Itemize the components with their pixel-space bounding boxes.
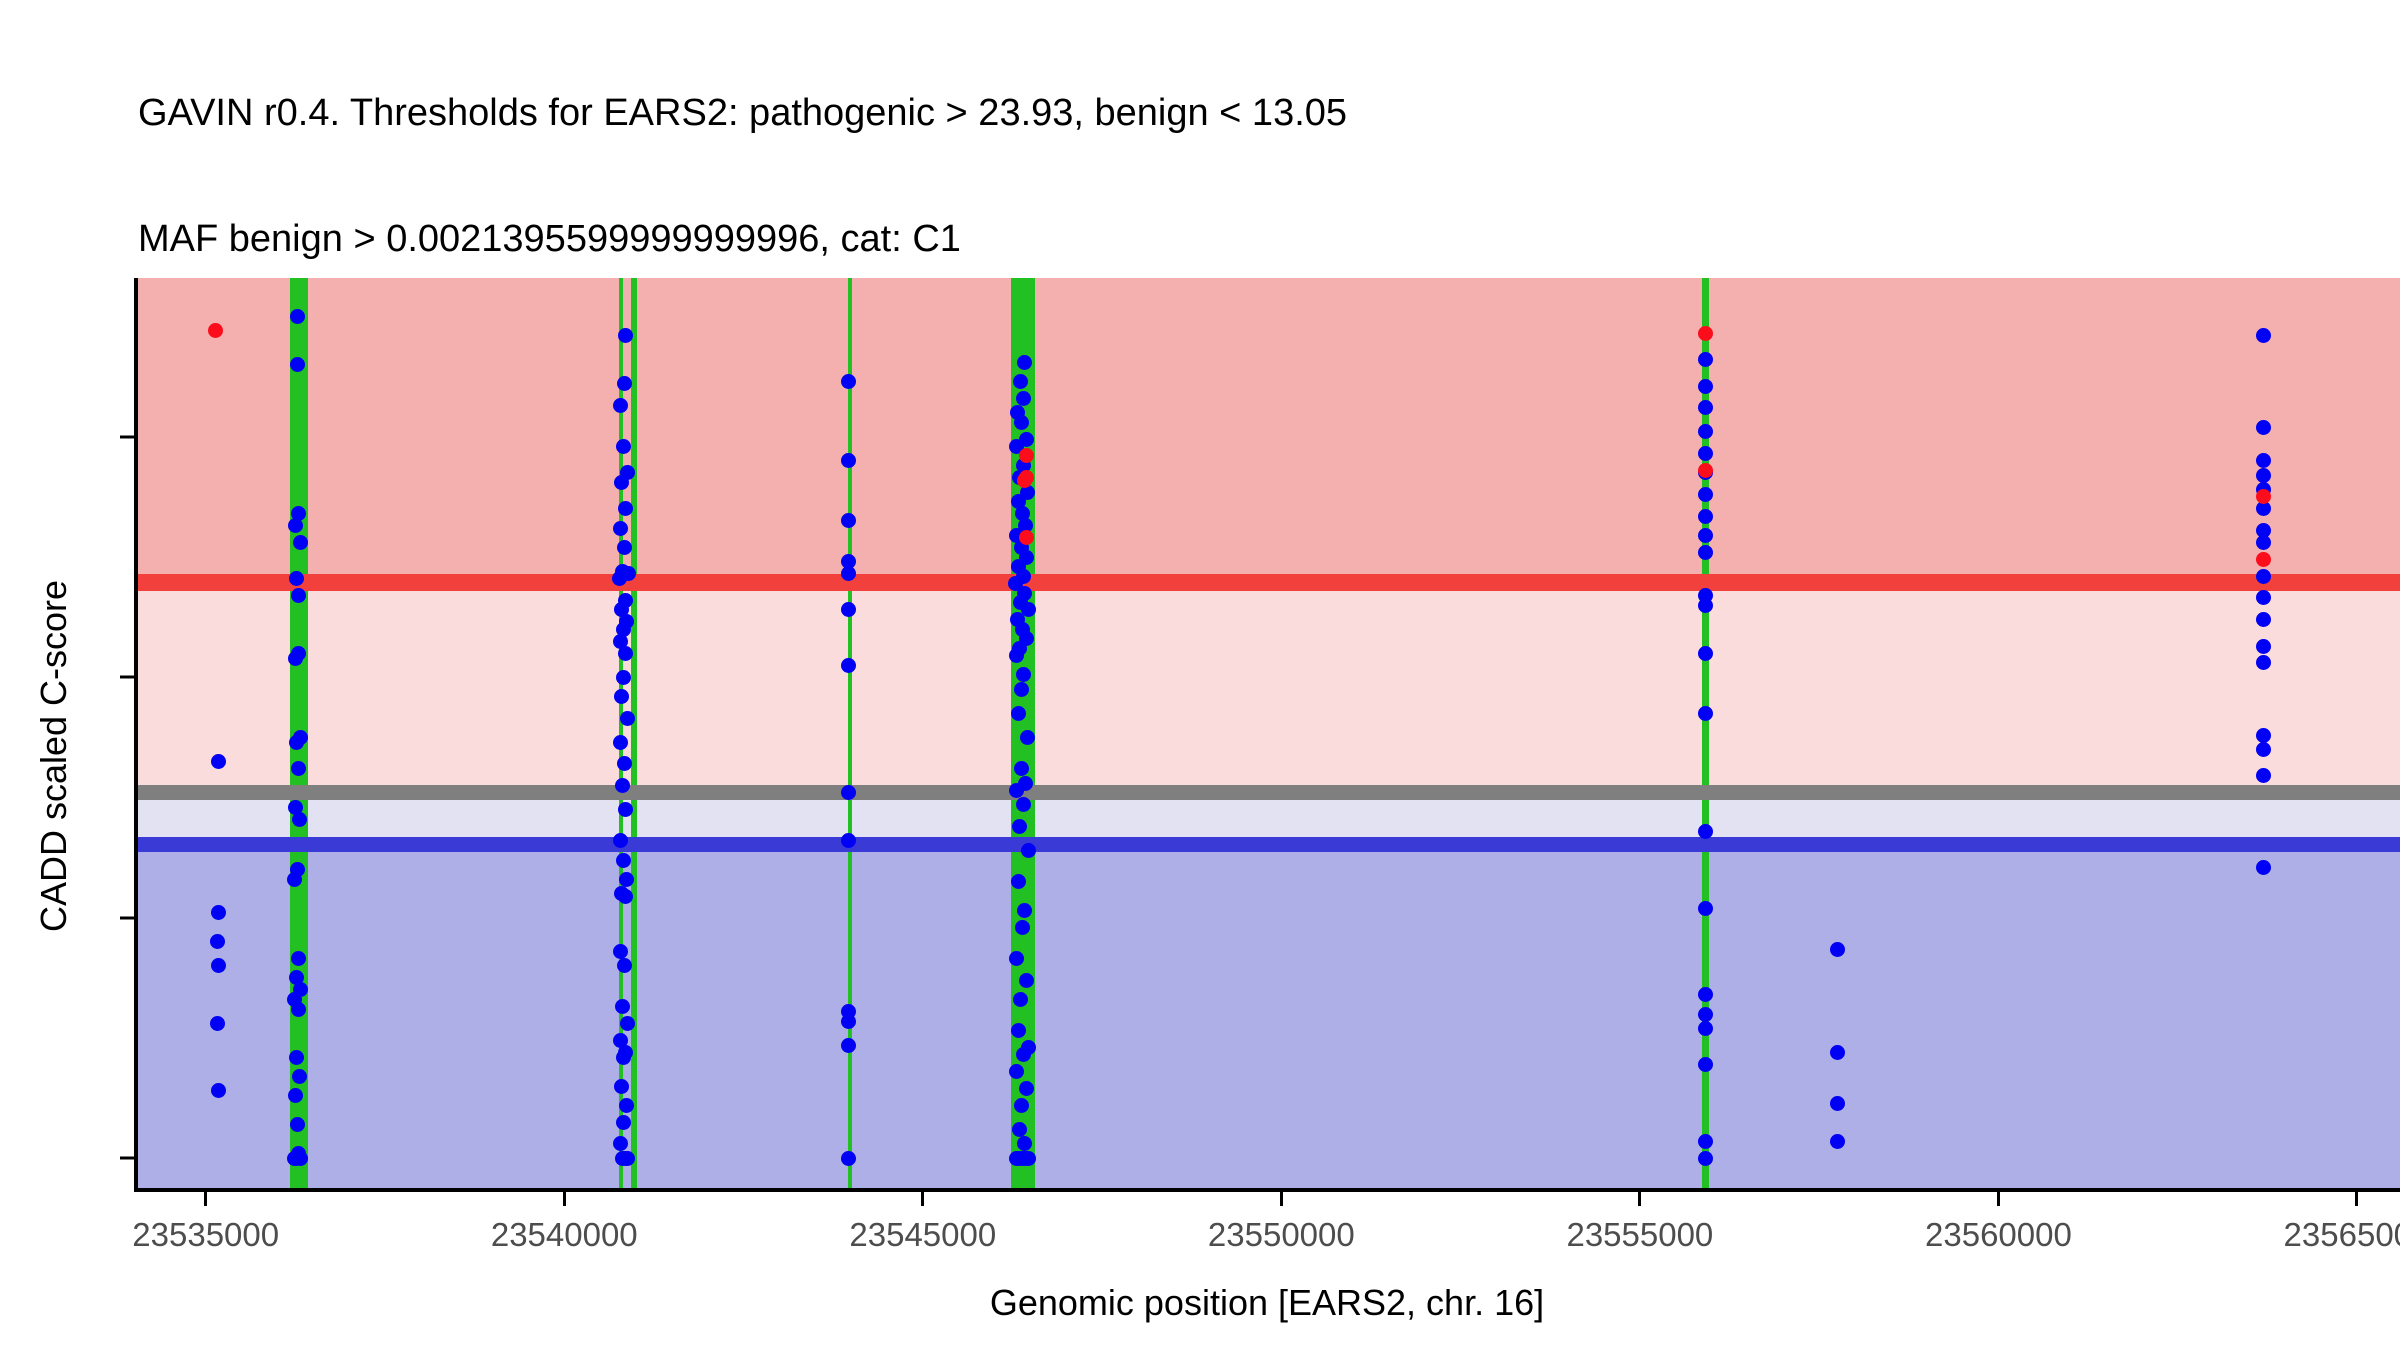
x-tick-label: 23555000 xyxy=(1566,1216,1713,1254)
x-tick-mark xyxy=(1997,1192,2000,1206)
gnomad-variant-point xyxy=(841,566,856,581)
gnomad-variant-point xyxy=(1830,942,1845,957)
gnomad-variant-point xyxy=(616,670,631,685)
gnomad-variant-point xyxy=(1011,1023,1026,1038)
gnomad-variant-point xyxy=(841,1151,856,1166)
gnomad-variant-point xyxy=(1698,824,1713,839)
gnomad-variant-point xyxy=(1698,598,1713,613)
gnomad-variant-point xyxy=(289,1050,304,1065)
gnomad-variant-point xyxy=(1698,706,1713,721)
gnomad-variant-point xyxy=(618,889,633,904)
gnomad-variant-point xyxy=(1019,973,1034,988)
gnomad-variant-point xyxy=(1013,374,1028,389)
gnomad-variant-point xyxy=(1011,706,1026,721)
gnomad-variant-point xyxy=(1021,1151,1036,1166)
gnomad-variant-point xyxy=(1698,1151,1713,1166)
gnomad-variant-point xyxy=(293,535,308,550)
gnomad-variant-point xyxy=(211,754,226,769)
gnomad-variant-point xyxy=(1015,920,1030,935)
gnomad-variant-point xyxy=(616,853,631,868)
gnomad-variant-point xyxy=(1014,415,1029,430)
gnomad-variant-point xyxy=(2256,569,2271,584)
gnomad-variant-point xyxy=(841,833,856,848)
gnomad-variant-point xyxy=(614,475,629,490)
gnomad-variant-point xyxy=(1020,730,1035,745)
x-tick-label: 23535000 xyxy=(132,1216,279,1254)
band-pathogenic xyxy=(134,278,2400,583)
x-tick-label: 23550000 xyxy=(1208,1216,1355,1254)
gnomad-variant-point xyxy=(1698,1007,1713,1022)
gnomad-variant-point xyxy=(1830,1096,1845,1111)
gnomad-variant-point xyxy=(1012,1122,1027,1137)
band-intermediate xyxy=(134,583,2400,793)
gnomad-variant-point xyxy=(1016,797,1031,812)
gnomad-variant-point xyxy=(291,1002,306,1017)
gnomad-variant-point xyxy=(1014,682,1029,697)
gnomad-variant-point xyxy=(1009,783,1024,798)
gnomad-variant-point xyxy=(1698,1021,1713,1036)
gnomad-variant-point xyxy=(841,658,856,673)
pathogenic-variant-point xyxy=(1017,473,1032,488)
gnomad-variant-point xyxy=(287,872,302,887)
x-tick-label: 23545000 xyxy=(849,1216,996,1254)
gnomad-variant-point xyxy=(290,357,305,372)
title-line-2: MAF benign > 0.0021395599999999996, cat:… xyxy=(138,218,1348,260)
gnomad-variant-point xyxy=(615,778,630,793)
x-tick-mark xyxy=(921,1192,924,1206)
gnomad-variant-point xyxy=(1698,424,1713,439)
gnomad-variant-point xyxy=(617,540,632,555)
gnomad-variant-point xyxy=(841,453,856,468)
gnomad-variant-point xyxy=(1830,1134,1845,1149)
gnomad-variant-point xyxy=(613,521,628,536)
gnomad-variant-point xyxy=(287,1151,302,1166)
x-tick-mark xyxy=(2355,1192,2358,1206)
gnomad-variant-point xyxy=(841,1014,856,1029)
gnomad-variant-point xyxy=(619,1098,634,1113)
x-tick-label: 23560000 xyxy=(1925,1216,2072,1254)
gnomad-variant-point xyxy=(1009,648,1024,663)
gnomad-variant-point xyxy=(841,785,856,800)
gnomad-variant-point xyxy=(616,1115,631,1130)
gnomad-variant-point xyxy=(1698,545,1713,560)
x-tick-mark xyxy=(563,1192,566,1206)
gnomad-variant-point xyxy=(1698,352,1713,367)
x-tick-label: 23540000 xyxy=(491,1216,638,1254)
gnomad-variant-point xyxy=(1698,646,1713,661)
y-tick-mark xyxy=(120,916,134,919)
gnomad-variant-point xyxy=(2256,420,2271,435)
gnomad-variant-point xyxy=(288,651,303,666)
gnomad-variant-point xyxy=(1698,528,1713,543)
chart-page: GAVIN r0.4. Thresholds for EARS2: pathog… xyxy=(0,0,2400,1350)
gnomad-variant-point xyxy=(1014,761,1029,776)
gnomad-variant-point xyxy=(1016,1047,1031,1062)
gnomad-variant-point xyxy=(841,1038,856,1053)
y-tick-mark xyxy=(120,1157,134,1160)
gnomad-variant-point xyxy=(620,1016,635,1031)
gnomad-variant-point xyxy=(1698,446,1713,461)
gnomad-variant-point xyxy=(290,309,305,324)
x-axis-label: Genomic position [EARS2, chr. 16] xyxy=(134,1282,2400,1324)
gnomad-variant-point xyxy=(614,1079,629,1094)
gnomad-variant-point xyxy=(288,518,303,533)
pathogenic-variant-point xyxy=(1698,463,1713,478)
x-tick-mark xyxy=(1280,1192,1283,1206)
gnomad-variant-point xyxy=(613,944,628,959)
gnomad-variant-point xyxy=(841,374,856,389)
gnomad-variant-point xyxy=(618,328,633,343)
gnomad-variant-point xyxy=(620,711,635,726)
gnomad-variant-point xyxy=(1698,987,1713,1002)
gnomad-variant-point xyxy=(613,735,628,750)
gnomad-variant-point xyxy=(2256,860,2271,875)
gnomad-variant-point xyxy=(1698,1134,1713,1149)
plot-area xyxy=(134,278,2400,1192)
band-benign xyxy=(134,844,2400,1192)
gnomad-variant-point xyxy=(616,1050,631,1065)
x-tick-mark xyxy=(1638,1192,1641,1206)
pathogenic-threshold-line xyxy=(134,574,2400,591)
gnomad-variant-point xyxy=(1698,487,1713,502)
gnomad-variant-point xyxy=(289,571,304,586)
gnomad-variant-point xyxy=(2256,468,2271,483)
gnomad-variant-point xyxy=(1698,509,1713,524)
gnomad-variant-point xyxy=(292,812,307,827)
y-tick-mark xyxy=(120,435,134,438)
gnomad-variant-point xyxy=(1830,1045,1845,1060)
gnomad-variant-point xyxy=(1698,1057,1713,1072)
title-line-1: GAVIN r0.4. Thresholds for EARS2: pathog… xyxy=(138,92,1348,134)
benign-threshold-line xyxy=(134,837,2400,852)
gnomad-variant-point xyxy=(1019,1081,1034,1096)
gnomad-variant-point xyxy=(1698,901,1713,916)
gnomad-variant-point xyxy=(620,1151,635,1166)
gnomad-variant-point xyxy=(1698,400,1713,415)
y-axis-label: CADD scaled C-score xyxy=(33,299,75,1213)
gnomad-variant-point xyxy=(619,872,634,887)
x-tick-mark xyxy=(204,1192,207,1206)
gnomad-variant-point xyxy=(1698,379,1713,394)
gnomad-variant-point xyxy=(2256,728,2271,743)
fallback-threshold-line xyxy=(134,785,2400,800)
exon-marker xyxy=(1702,278,1708,1192)
gnomad-variant-point xyxy=(1017,355,1032,370)
gnomad-variant-point xyxy=(289,735,304,750)
exon-marker xyxy=(848,278,852,1192)
gnomad-variant-point xyxy=(2256,639,2271,654)
gnomad-variant-point xyxy=(1012,819,1027,834)
pathogenic-variant-point xyxy=(1698,326,1713,341)
x-tick-label: 23565000 xyxy=(2284,1216,2400,1254)
y-tick-mark xyxy=(120,676,134,679)
gnomad-variant-point xyxy=(1009,951,1024,966)
gnomad-variant-point xyxy=(1013,992,1028,1007)
gnomad-variant-point xyxy=(1016,391,1031,406)
